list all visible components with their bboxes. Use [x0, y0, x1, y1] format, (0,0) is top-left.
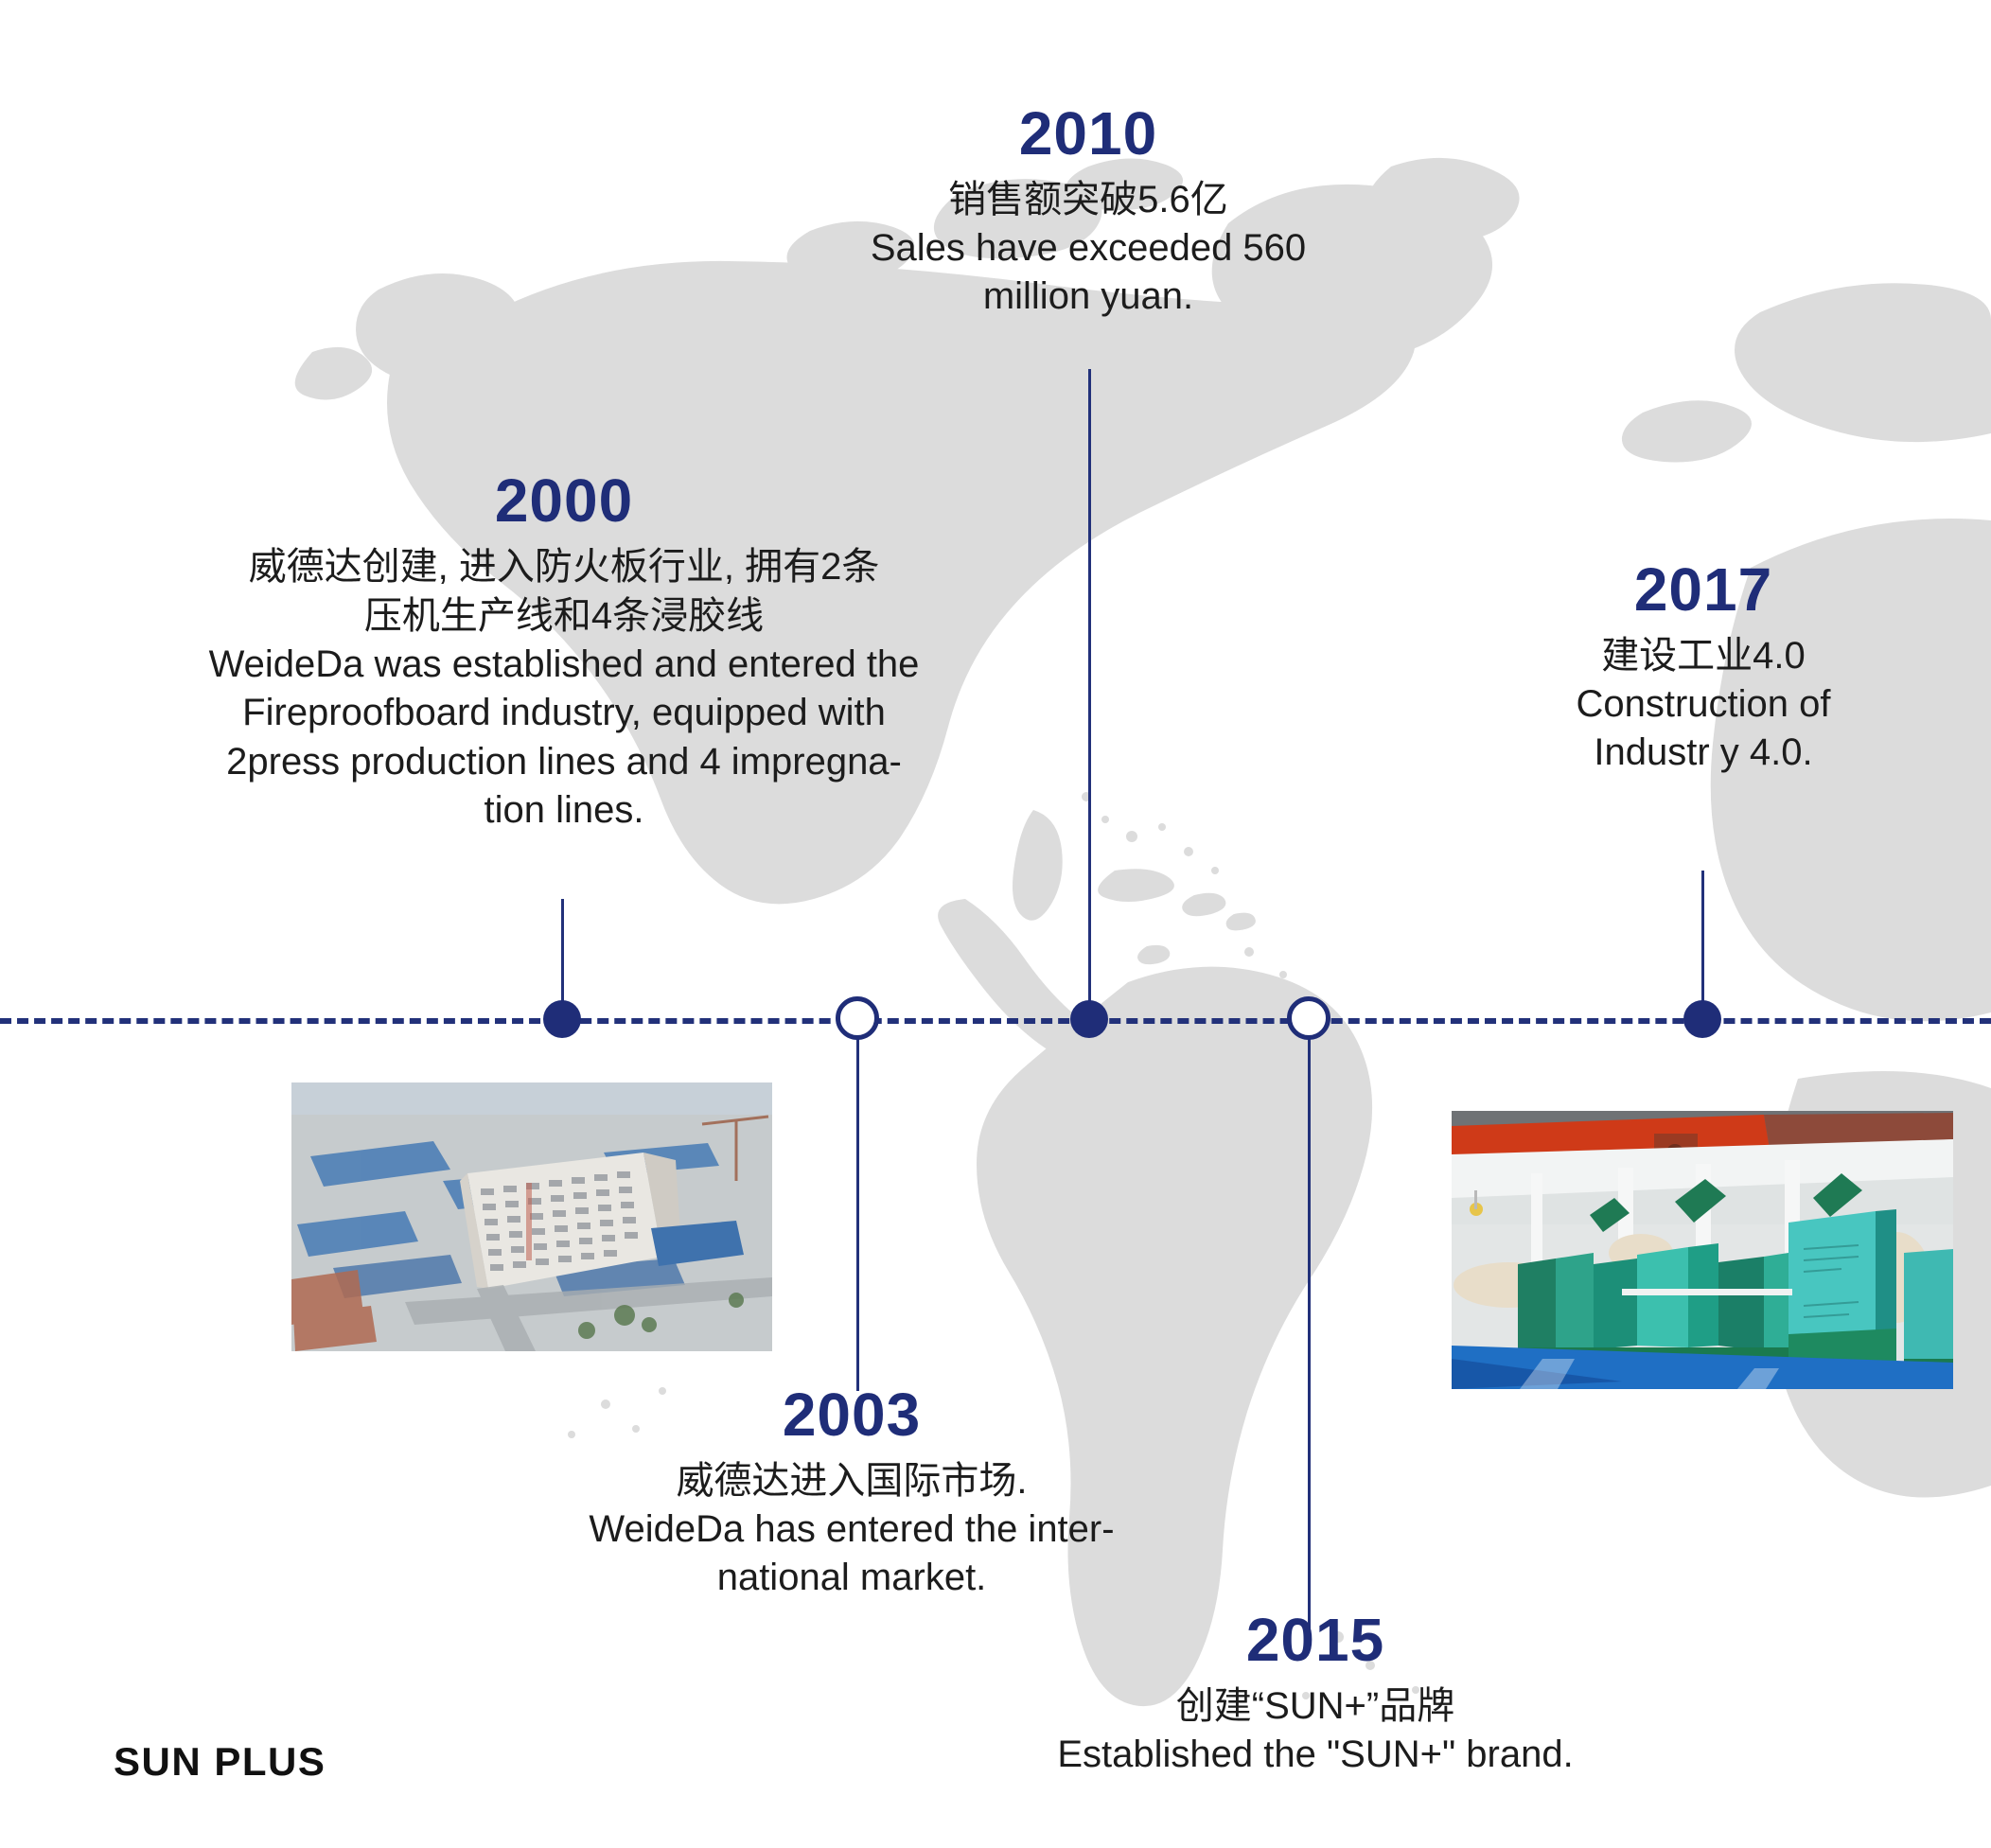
- milestone-year-2010: 2010: [804, 102, 1372, 166]
- milestone-2010: 2010 销售额突破5.6亿 Sales have exceeded 560 m…: [804, 102, 1372, 322]
- milestone-year-2017: 2017: [1514, 558, 1893, 622]
- timeline-node-2003[interactable]: [836, 996, 879, 1040]
- milestone-2000: 2000 威德达创建, 进入防火板行业, 拥有2条 压机生产线和4条浸胶线 We…: [91, 469, 1037, 835]
- brand-logo-sun-plus: SUN PLUS: [114, 1739, 326, 1785]
- milestone-year-2000: 2000: [91, 469, 1037, 533]
- milestone-2000-en-line4: tion lines.: [91, 786, 1037, 835]
- connector-2003: [856, 1031, 859, 1391]
- milestone-2017-en-line1: Construction of: [1514, 680, 1893, 729]
- milestone-2017: 2017 建设工业4.0 Construction of Industr y 4…: [1514, 558, 1893, 778]
- milestone-2010-en-line1: Sales have exceeded 560: [804, 224, 1372, 273]
- connector-2015: [1308, 1031, 1311, 1637]
- milestone-2000-en-line2: Fireproofboard industry, equipped with: [91, 689, 1037, 737]
- milestone-year-2015: 2015: [956, 1609, 1675, 1672]
- milestone-2015-cn-line1: 创建“SUN+”品牌: [956, 1681, 1675, 1731]
- timeline-infographic: 2010 销售额突破5.6亿 Sales have exceeded 560 m…: [0, 0, 1991, 1848]
- milestone-2000-cn-line1: 威德达创建, 进入防火板行业, 拥有2条: [91, 542, 1037, 591]
- milestone-2010-en-line2: million yuan.: [804, 273, 1372, 321]
- milestone-year-2003: 2003: [492, 1383, 1211, 1447]
- milestone-2003: 2003 威德达进入国际市场. WeideDa has entered the …: [492, 1383, 1211, 1603]
- milestone-2003-cn-line1: 威德达进入国际市场.: [492, 1456, 1211, 1505]
- timeline-node-2010[interactable]: [1070, 1000, 1108, 1038]
- milestone-2003-en-line2: national market.: [492, 1554, 1211, 1602]
- timeline-node-2017[interactable]: [1683, 1000, 1721, 1038]
- milestone-2015: 2015 创建“SUN+”品牌 Established the "SUN+" b…: [956, 1609, 1675, 1779]
- timeline-node-2015[interactable]: [1287, 996, 1330, 1040]
- milestone-2000-en-line3: 2press production lines and 4 impregna-: [91, 738, 1037, 786]
- milestone-2017-cn-line1: 建设工业4.0: [1514, 631, 1893, 680]
- milestone-2015-en-line1: Established the "SUN+" brand.: [956, 1731, 1675, 1779]
- milestone-2003-en-line1: WeideDa has entered the inter-: [492, 1505, 1211, 1554]
- milestone-2010-cn-line1: 销售额突破5.6亿: [804, 175, 1372, 224]
- milestone-2000-cn-line2: 压机生产线和4条浸胶线: [91, 591, 1037, 641]
- photo-impregnation-line: [1452, 1111, 1953, 1389]
- photo-factory-aerial: [291, 1082, 772, 1351]
- milestone-2000-en-line1: WeideDa was established and entered the: [91, 641, 1037, 689]
- timeline-node-2000[interactable]: [543, 1000, 581, 1038]
- connector-2010: [1088, 369, 1091, 1027]
- milestone-2017-en-line2: Industr y 4.0.: [1514, 729, 1893, 777]
